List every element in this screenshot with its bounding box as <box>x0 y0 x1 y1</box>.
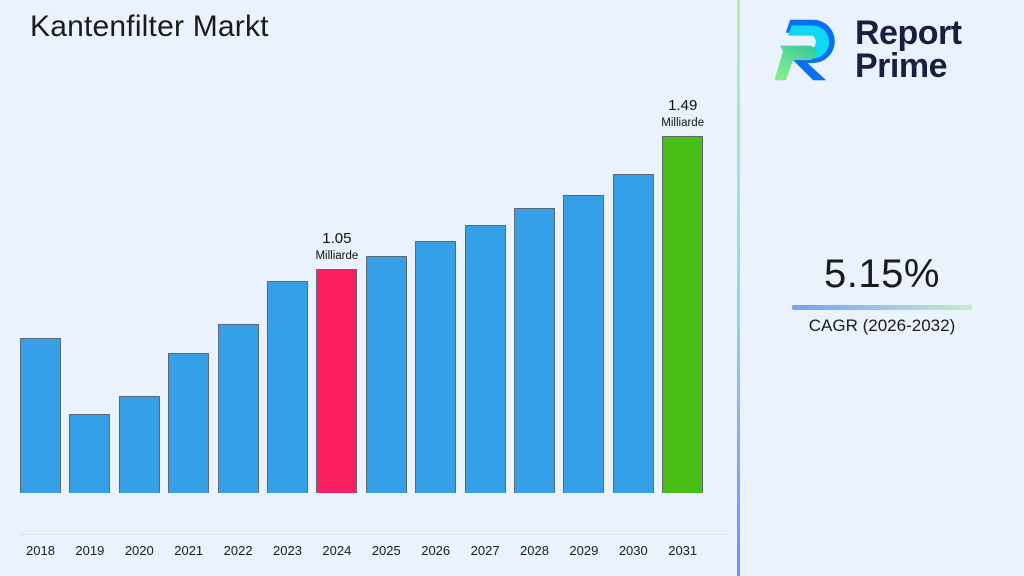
x-tick-2026: 2026 <box>412 543 460 558</box>
bar-value-2024: 1.05 <box>315 230 358 249</box>
bar-rect-2021[interactable] <box>168 353 209 493</box>
bar-value-label-2024: 1.05Milliarde <box>315 230 358 263</box>
x-tick-2020: 2020 <box>115 543 163 558</box>
bar-value-2031: 1.49 <box>661 97 704 116</box>
report-prime-mark-icon <box>770 14 842 86</box>
x-tick-2022: 2022 <box>214 543 262 558</box>
bar-rect-2029[interactable] <box>563 195 604 493</box>
cagr-block: 5.15% CAGR (2026-2032) <box>740 252 1024 336</box>
brand-logo-text: Report Prime <box>855 17 962 84</box>
bar-unit-2031: Milliarde <box>661 116 704 130</box>
cagr-caption: CAGR (2026-2032) <box>740 316 1024 336</box>
brand-logo: Report Prime <box>770 14 962 86</box>
bar-rect-2028[interactable] <box>514 208 555 493</box>
x-tick-2021: 2021 <box>165 543 213 558</box>
x-tick-2023: 2023 <box>264 543 312 558</box>
bar-chart-plot: 1.05Milliarde1.49Milliarde 2018201920202… <box>0 0 730 535</box>
bar-rect-2022[interactable] <box>218 324 259 493</box>
brand-logo-line-1: Report <box>855 17 962 50</box>
bar-rect-2019[interactable] <box>69 414 110 493</box>
brand-logo-line-2: Prime <box>855 50 962 83</box>
x-tick-2025: 2025 <box>362 543 410 558</box>
x-tick-2018: 2018 <box>17 543 65 558</box>
x-tick-2031: 2031 <box>659 543 707 558</box>
x-tick-2024: 2024 <box>313 543 361 558</box>
x-axis-line <box>20 534 726 535</box>
right-panel: Report Prime 5.15% CAGR (2026-2032) <box>740 0 1024 576</box>
bar-rect-2031[interactable] <box>662 136 703 493</box>
bar-unit-2024: Milliarde <box>315 249 358 263</box>
bar-rect-2024[interactable] <box>316 269 357 493</box>
x-tick-2028: 2028 <box>511 543 559 558</box>
bar-rect-2018[interactable] <box>20 338 61 493</box>
x-tick-2027: 2027 <box>461 543 509 558</box>
bar-rect-2026[interactable] <box>415 241 456 493</box>
bar-rect-2025[interactable] <box>366 256 407 493</box>
bar-rect-2027[interactable] <box>465 225 506 493</box>
bar-rect-2023[interactable] <box>267 281 308 493</box>
bar-value-label-2031: 1.49Milliarde <box>661 97 704 130</box>
x-tick-2019: 2019 <box>66 543 114 558</box>
chart-area: Kantenfilter Markt 1.05Milliarde1.49Mill… <box>0 0 730 576</box>
bar-rect-2020[interactable] <box>119 396 160 493</box>
slide-canvas: Kantenfilter Markt 1.05Milliarde1.49Mill… <box>0 0 1024 576</box>
x-tick-2029: 2029 <box>560 543 608 558</box>
x-tick-2030: 2030 <box>609 543 657 558</box>
cagr-value: 5.15% <box>740 252 1024 297</box>
bar-rect-2030[interactable] <box>613 174 654 493</box>
cagr-divider-rule <box>792 305 972 310</box>
